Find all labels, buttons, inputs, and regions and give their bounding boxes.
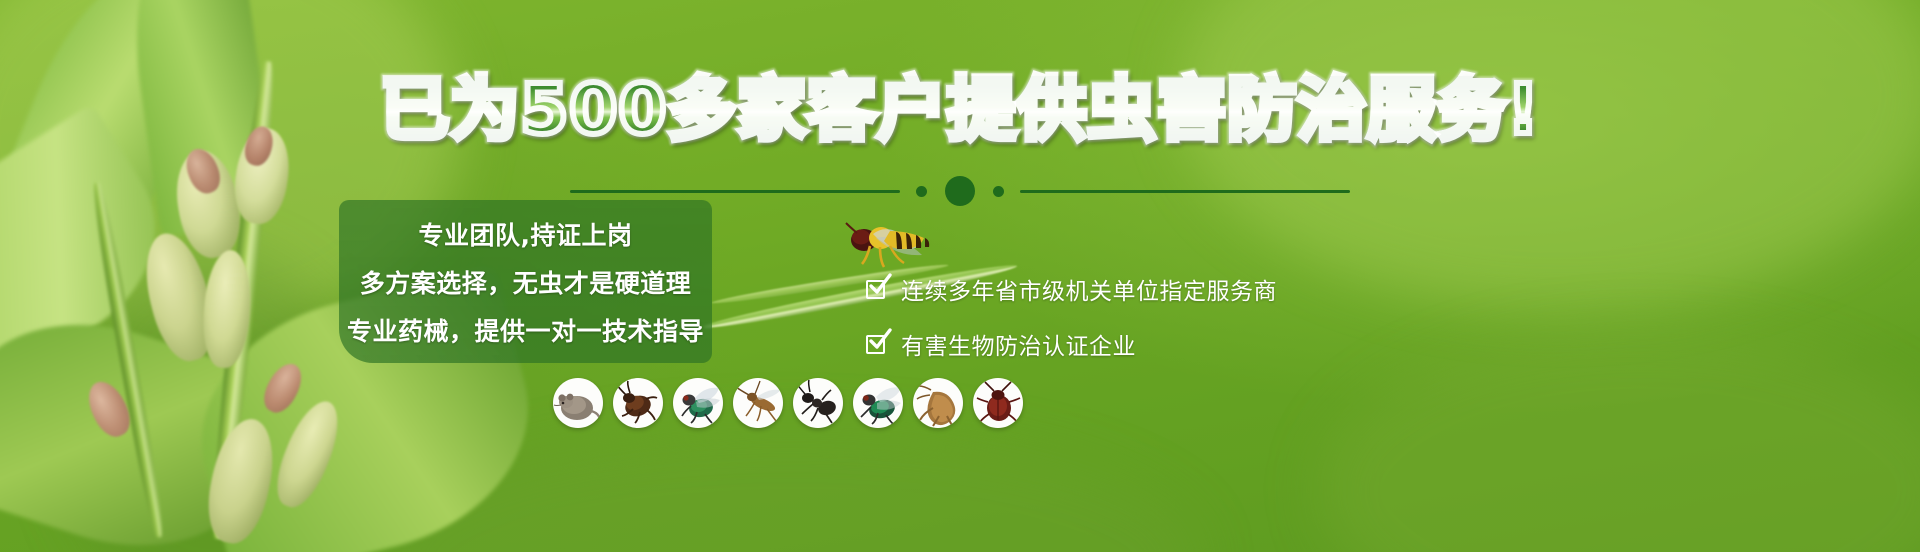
pest-icon-ant[interactable] [793, 378, 843, 428]
divider-rule-left [570, 190, 900, 193]
cockroach-icon [613, 378, 663, 428]
pest-icon-blowfly[interactable] [853, 378, 903, 428]
housefly-icon [673, 378, 723, 428]
pest-icon-row [553, 378, 1023, 428]
pest-control-banner: 已为500多家客户提供虫害防治服务! 已为500多家客户提供虫害防治服务! 专业… [0, 0, 1920, 552]
checklist-item-label: 连续多年省市级机关单位指定服务商 [901, 272, 1277, 306]
divider-dots [900, 176, 1020, 206]
checklist-item: 有害生物防治认证企业 [866, 327, 1277, 361]
hoverfly-icon [840, 214, 950, 272]
slogan-panel: 专业团队,持证上岗 多方案选择，无虫才是硬道理 专业药械，提供一对一技术指导 [339, 200, 712, 363]
pest-icon-flea[interactable] [913, 378, 963, 428]
rodent-icon [553, 378, 603, 428]
pest-icon-rodent[interactable] [553, 378, 603, 428]
credentials-checklist: 连续多年省市级机关单位指定服务商 有害生物防治认证企业 [866, 272, 1277, 361]
slogan-line-1: 专业团队,持证上岗 [419, 216, 633, 252]
checklist-item: 连续多年省市级机关单位指定服务商 [866, 272, 1277, 306]
divider-dot-small [993, 186, 1004, 197]
bedbug-icon [973, 378, 1023, 428]
pest-icon-mosquito[interactable] [733, 378, 783, 428]
blowfly-icon [853, 378, 903, 428]
checkbox-checked-icon [866, 278, 888, 300]
checklist-item-label: 有害生物防治认证企业 [901, 327, 1136, 361]
slogan-line-2: 多方案选择，无虫才是硬道理 [360, 264, 692, 300]
pest-icon-cockroach[interactable] [613, 378, 663, 428]
divider-dot-small [916, 186, 927, 197]
pest-icon-housefly[interactable] [673, 378, 723, 428]
page-title: 已为500多家客户提供虫害防治服务! [0, 76, 1920, 145]
background-foliage-blob [1180, 0, 1920, 310]
pest-icon-bedbug[interactable] [973, 378, 1023, 428]
flea-icon [913, 378, 963, 428]
background-foliage-blob [1320, 330, 1920, 552]
divider-rule-right [1020, 190, 1350, 193]
ant-icon [793, 378, 843, 428]
checkbox-checked-icon [866, 333, 888, 355]
divider-dot-large [945, 176, 975, 206]
mosquito-icon [733, 378, 783, 428]
slogan-line-3: 专业药械，提供一对一技术指导 [347, 312, 704, 348]
decorative-divider [0, 176, 1920, 206]
